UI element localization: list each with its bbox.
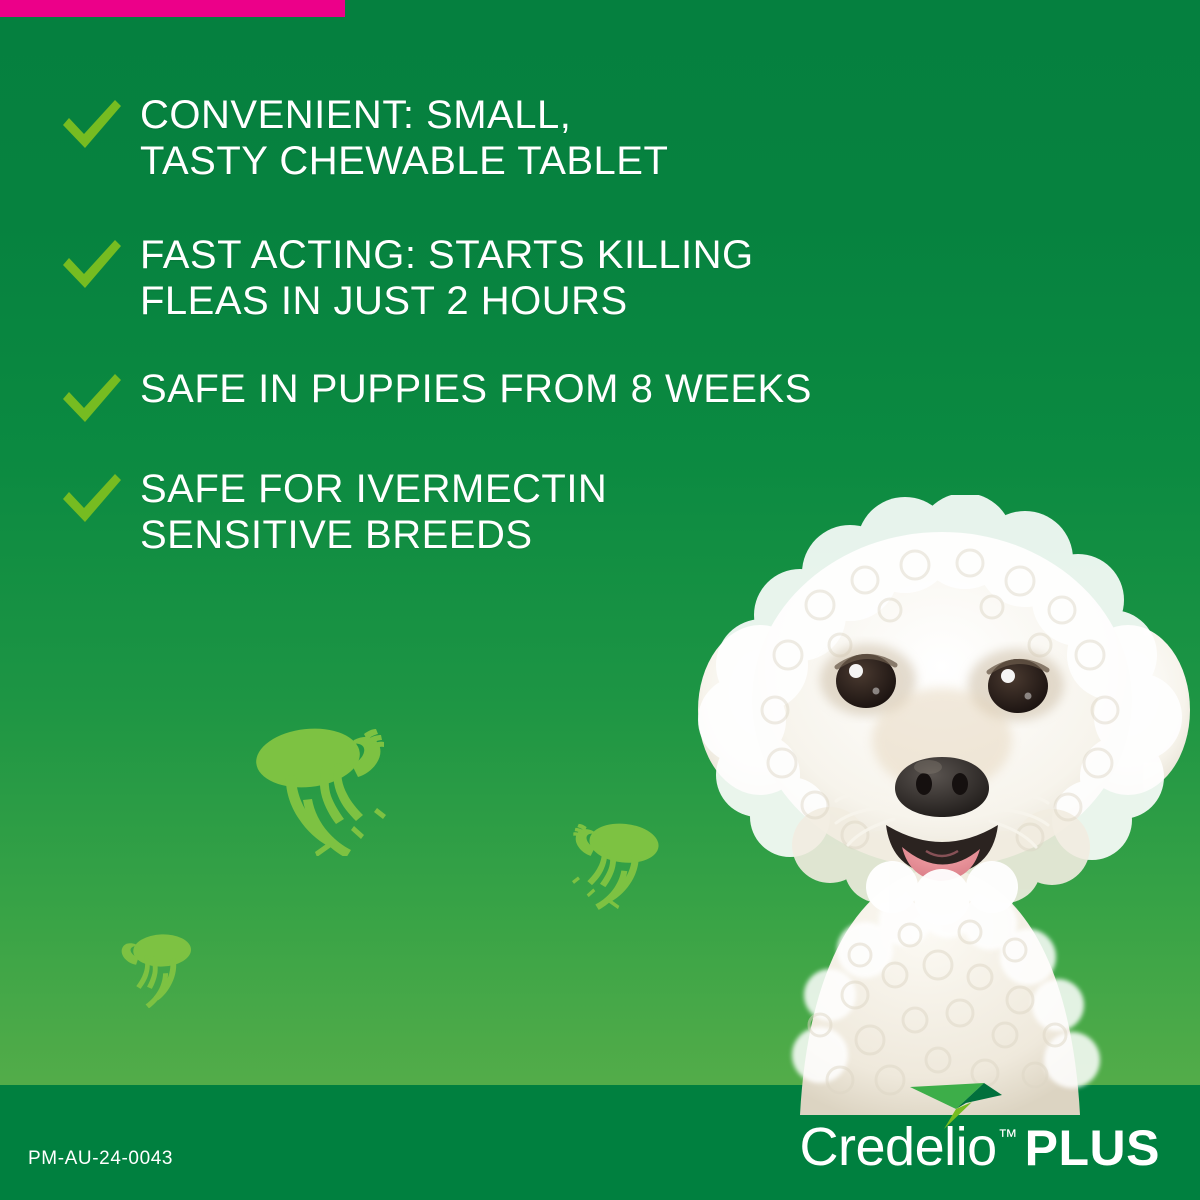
benefit-text-3: SAFE IN PUPPIES FROM 8 WEEKS bbox=[140, 366, 812, 412]
benefit-item-4: SAFE FOR IVERMECTIN SENSITIVE BREEDS bbox=[60, 466, 980, 558]
benefit-text-1: CONVENIENT: SMALL, TASTY CHEWABLE TABLET bbox=[140, 92, 668, 184]
checkmark-icon bbox=[60, 98, 122, 152]
logo-swoosh-icon bbox=[910, 1083, 1002, 1131]
benefit-text-2: FAST ACTING: STARTS KILLING FLEAS IN JUS… bbox=[140, 232, 754, 324]
flea-illustration-2 bbox=[552, 806, 672, 911]
checkmark-icon bbox=[60, 472, 122, 526]
flea-illustration-3 bbox=[104, 922, 204, 1007]
benefit-item-1: CONVENIENT: SMALL, TASTY CHEWABLE TABLET bbox=[60, 92, 980, 184]
advertisement-banner: CONVENIENT: SMALL, TASTY CHEWABLE TABLET… bbox=[0, 0, 1200, 1200]
dog-photo bbox=[680, 495, 1200, 1115]
flea-illustration-1 bbox=[236, 706, 416, 856]
benefit-text-4: SAFE FOR IVERMECTIN SENSITIVE BREEDS bbox=[140, 466, 607, 558]
checkmark-icon bbox=[60, 372, 122, 426]
logo-variant-text: PLUS bbox=[1025, 1120, 1160, 1176]
pink-accent-bar bbox=[0, 0, 345, 17]
material-code: PM-AU-24-0043 bbox=[28, 1148, 173, 1170]
checkmark-icon bbox=[60, 238, 122, 292]
benefit-item-2: FAST ACTING: STARTS KILLING FLEAS IN JUS… bbox=[60, 232, 980, 324]
logo-trademark-symbol: ™ bbox=[998, 1127, 1018, 1147]
benefit-item-3: SAFE IN PUPPIES FROM 8 WEEKS bbox=[60, 366, 980, 426]
credelio-plus-logo: Credelio ™ PLUS bbox=[800, 1119, 1160, 1176]
benefits-list: CONVENIENT: SMALL, TASTY CHEWABLE TABLET… bbox=[60, 92, 980, 558]
